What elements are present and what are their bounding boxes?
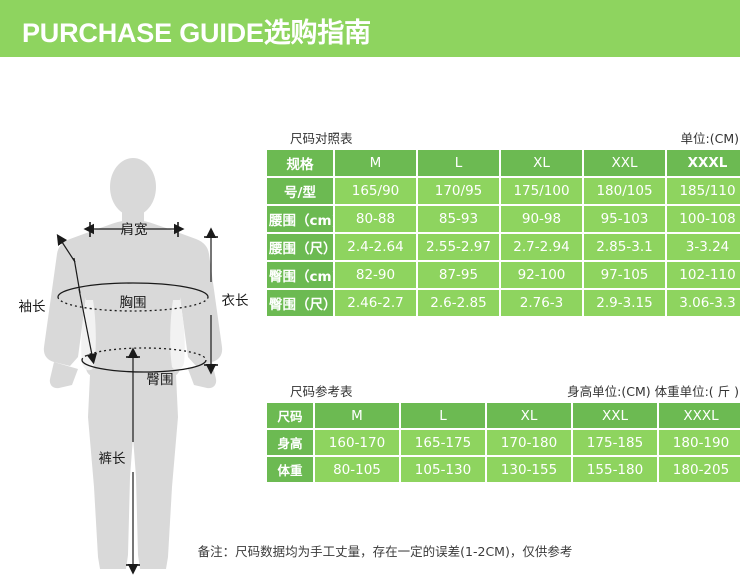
footnote: 备注：尺码数据均为手工丈量，存在一定的误差(1-2CM)，仅供参考 <box>0 541 740 560</box>
table-cell: 92-100 <box>501 262 582 288</box>
label-sleeve-length: 袖长 <box>19 299 46 315</box>
table-row: 号/型 165/90 170/95 175/100 180/105 185/11… <box>267 178 740 204</box>
table-cell: 100-108 <box>667 206 740 232</box>
table-cell: 2.7-2.94 <box>501 234 582 260</box>
label-hip: 臀围 <box>147 372 174 388</box>
size-chart-captions: 尺码对照表 单位:(CM) <box>265 126 739 148</box>
label-shoulder-width: 肩宽 <box>121 221 148 238</box>
table-cell: 180-205 <box>659 457 740 482</box>
table-cell: 165-175 <box>401 430 485 455</box>
size-reference-captions: 尺码参考表 身高单位:(CM) 体重单位:( 斤 ) <box>265 379 739 401</box>
table-header-row: 规格 M L XL XXL XXXL <box>267 150 740 176</box>
table-header-row: 尺码 M L XL XXL XXXL <box>267 403 740 428</box>
size-chart-caption: 尺码对照表 <box>290 128 353 147</box>
column-header-spec: 规格 <box>267 150 333 176</box>
table-row: 腰围（尺） 2.4-2.64 2.55-2.97 2.7-2.94 2.85-3… <box>267 234 740 260</box>
measurement-diagram: 肩宽 袖长 胸围 衣长 臀围 裤长 <box>0 57 265 577</box>
column-header-xl: XL <box>487 403 571 428</box>
table-cell: 105-130 <box>401 457 485 482</box>
header-banner: PURCHASE GUIDE选购指南 <box>0 0 740 57</box>
footnote-text: 备注：尺码数据均为手工丈量，存在一定的误差(1-2CM)，仅供参考 <box>168 541 573 560</box>
table-cell: 185/110 <box>667 178 740 204</box>
table-cell: 85-93 <box>418 206 499 232</box>
label-chest: 胸围 <box>120 295 147 311</box>
label-trouser-length: 裤长 <box>99 451 126 467</box>
table-cell: 2.6-2.85 <box>418 290 499 316</box>
table-cell: 180/105 <box>584 178 665 204</box>
row-label: 臀围（cm) <box>267 262 333 288</box>
column-header-l: L <box>401 403 485 428</box>
table-cell: 175-185 <box>573 430 657 455</box>
body-silhouette-svg: 肩宽 袖长 胸围 衣长 臀围 裤长 <box>0 57 265 577</box>
table-cell: 2.85-3.1 <box>584 234 665 260</box>
table-cell: 82-90 <box>335 262 416 288</box>
table-cell: 165/90 <box>335 178 416 204</box>
table-cell: 97-105 <box>584 262 665 288</box>
column-header-l: L <box>418 150 499 176</box>
table-cell: 90-98 <box>501 206 582 232</box>
size-chart-unit: 单位:(CM) <box>681 128 739 147</box>
table-cell: 2.9-3.15 <box>584 290 665 316</box>
table-cell: 87-95 <box>418 262 499 288</box>
table-row: 身高 160-170 165-175 170-180 175-185 180-1… <box>267 430 740 455</box>
row-label: 号/型 <box>267 178 333 204</box>
row-label: 腰围（尺） <box>267 234 333 260</box>
table-row: 腰围（cm) 80-88 85-93 90-98 95-103 100-108 <box>267 206 740 232</box>
column-header-m: M <box>315 403 399 428</box>
table-cell: 160-170 <box>315 430 399 455</box>
table-cell: 2.55-2.97 <box>418 234 499 260</box>
size-reference-table: 尺码 M L XL XXL XXXL 身高 160-170 165-175 17… <box>265 401 740 484</box>
table-cell: 3-3.24 <box>667 234 740 260</box>
column-header-xxl: XXL <box>573 403 657 428</box>
column-header-size: 尺码 <box>267 403 313 428</box>
table-cell: 80-88 <box>335 206 416 232</box>
table-cell: 130-155 <box>487 457 571 482</box>
table-cell: 95-103 <box>584 206 665 232</box>
table-cell: 2.46-2.7 <box>335 290 416 316</box>
table-cell: 180-190 <box>659 430 740 455</box>
table-cell: 102-110 <box>667 262 740 288</box>
column-header-xl: XL <box>501 150 582 176</box>
column-header-xxl: XXL <box>584 150 665 176</box>
page-title: PURCHASE GUIDE选购指南 <box>22 11 371 50</box>
size-reference-unit: 身高单位:(CM) 体重单位:( 斤 ) <box>567 381 739 400</box>
table-cell: 2.76-3 <box>501 290 582 316</box>
table-row: 臀围（cm) 82-90 87-95 92-100 97-105 102-110 <box>267 262 740 288</box>
table-cell: 3.06-3.3 <box>667 290 740 316</box>
size-reference-block: 尺码参考表 身高单位:(CM) 体重单位:( 斤 ) 尺码 M L XL XXL… <box>265 379 739 484</box>
table-cell: 170-180 <box>487 430 571 455</box>
row-label: 体重 <box>267 457 313 482</box>
size-chart-table: 规格 M L XL XXL XXXL 号/型 165/90 170/95 175… <box>265 148 740 318</box>
table-cell: 170/95 <box>418 178 499 204</box>
table-row: 臀围（尺） 2.46-2.7 2.6-2.85 2.76-3 2.9-3.15 … <box>267 290 740 316</box>
table-row: 体重 80-105 105-130 130-155 155-180 180-20… <box>267 457 740 482</box>
table-cell: 155-180 <box>573 457 657 482</box>
label-garment-length: 衣长 <box>222 293 249 309</box>
row-label: 臀围（尺） <box>267 290 333 316</box>
column-header-m: M <box>335 150 416 176</box>
table-cell: 80-105 <box>315 457 399 482</box>
table-cell: 175/100 <box>501 178 582 204</box>
row-label: 身高 <box>267 430 313 455</box>
column-header-xxxl: XXXL <box>659 403 740 428</box>
size-chart-block: 尺码对照表 单位:(CM) 规格 M L XL XXL XXXL 号/型 165… <box>265 126 739 318</box>
row-label: 腰围（cm) <box>267 206 333 232</box>
table-cell: 2.4-2.64 <box>335 234 416 260</box>
size-reference-caption: 尺码参考表 <box>290 381 353 400</box>
column-header-xxxl: XXXL <box>667 150 740 176</box>
